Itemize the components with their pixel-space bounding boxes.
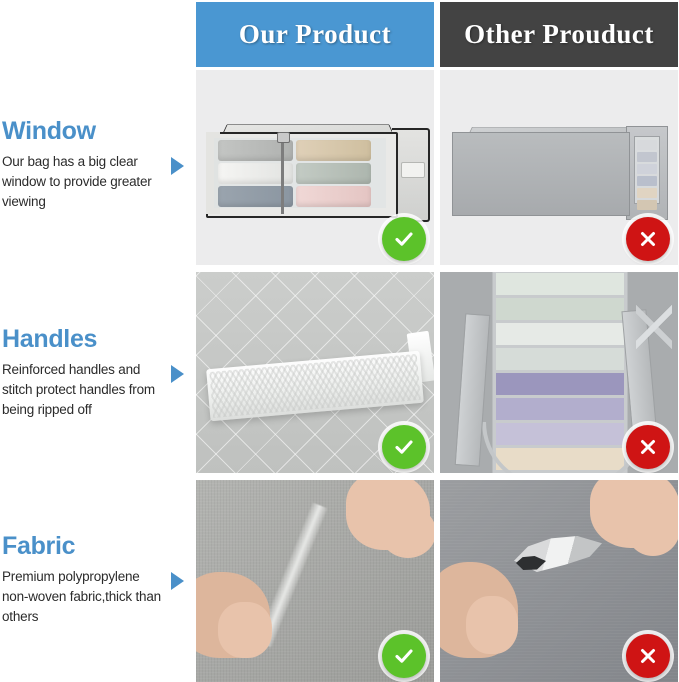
feature-title-fabric: Fabric [2,533,196,561]
feature-title-handles: Handles [2,326,196,354]
check-icon [382,217,426,261]
feature-description-fabric: Premium polypropylene non-woven fabric,t… [2,567,167,628]
header-banner-other-product: Other Prouduct [440,2,678,67]
feature-text-window: Window Our bag has a big clear window to… [0,118,196,212]
header-label-our-product: Our Product [239,19,391,50]
feature-text-handles: Handles Reinforced handles and stitch pr… [0,326,196,420]
check-icon [382,425,426,469]
feature-title-window: Window [2,118,196,146]
image-fabric-other-product [440,480,678,682]
triangle-right-icon [171,157,184,175]
cross-icon [626,425,670,469]
triangle-right-icon [171,572,184,590]
header-banner-our-product: Our Product [196,2,434,67]
image-handles-other-product [440,272,678,473]
feature-description-handles: Reinforced handles and stitch protect ha… [2,360,167,421]
feature-description-window: Our bag has a big clear window to provid… [2,152,167,213]
header-label-other-product: Other Prouduct [464,19,654,50]
triangle-right-icon [171,365,184,383]
image-window-other-product [440,70,678,265]
cross-icon [626,217,670,261]
cross-icon [626,634,670,678]
product-comparison-infographic: Our Product Other Prouduct Window Our ba… [0,0,679,682]
image-handles-our-product [196,272,434,473]
image-window-our-product [196,70,434,265]
image-fabric-our-product [196,480,434,682]
feature-text-fabric: Fabric Premium polypropylene non-woven f… [0,533,196,627]
check-icon [382,634,426,678]
